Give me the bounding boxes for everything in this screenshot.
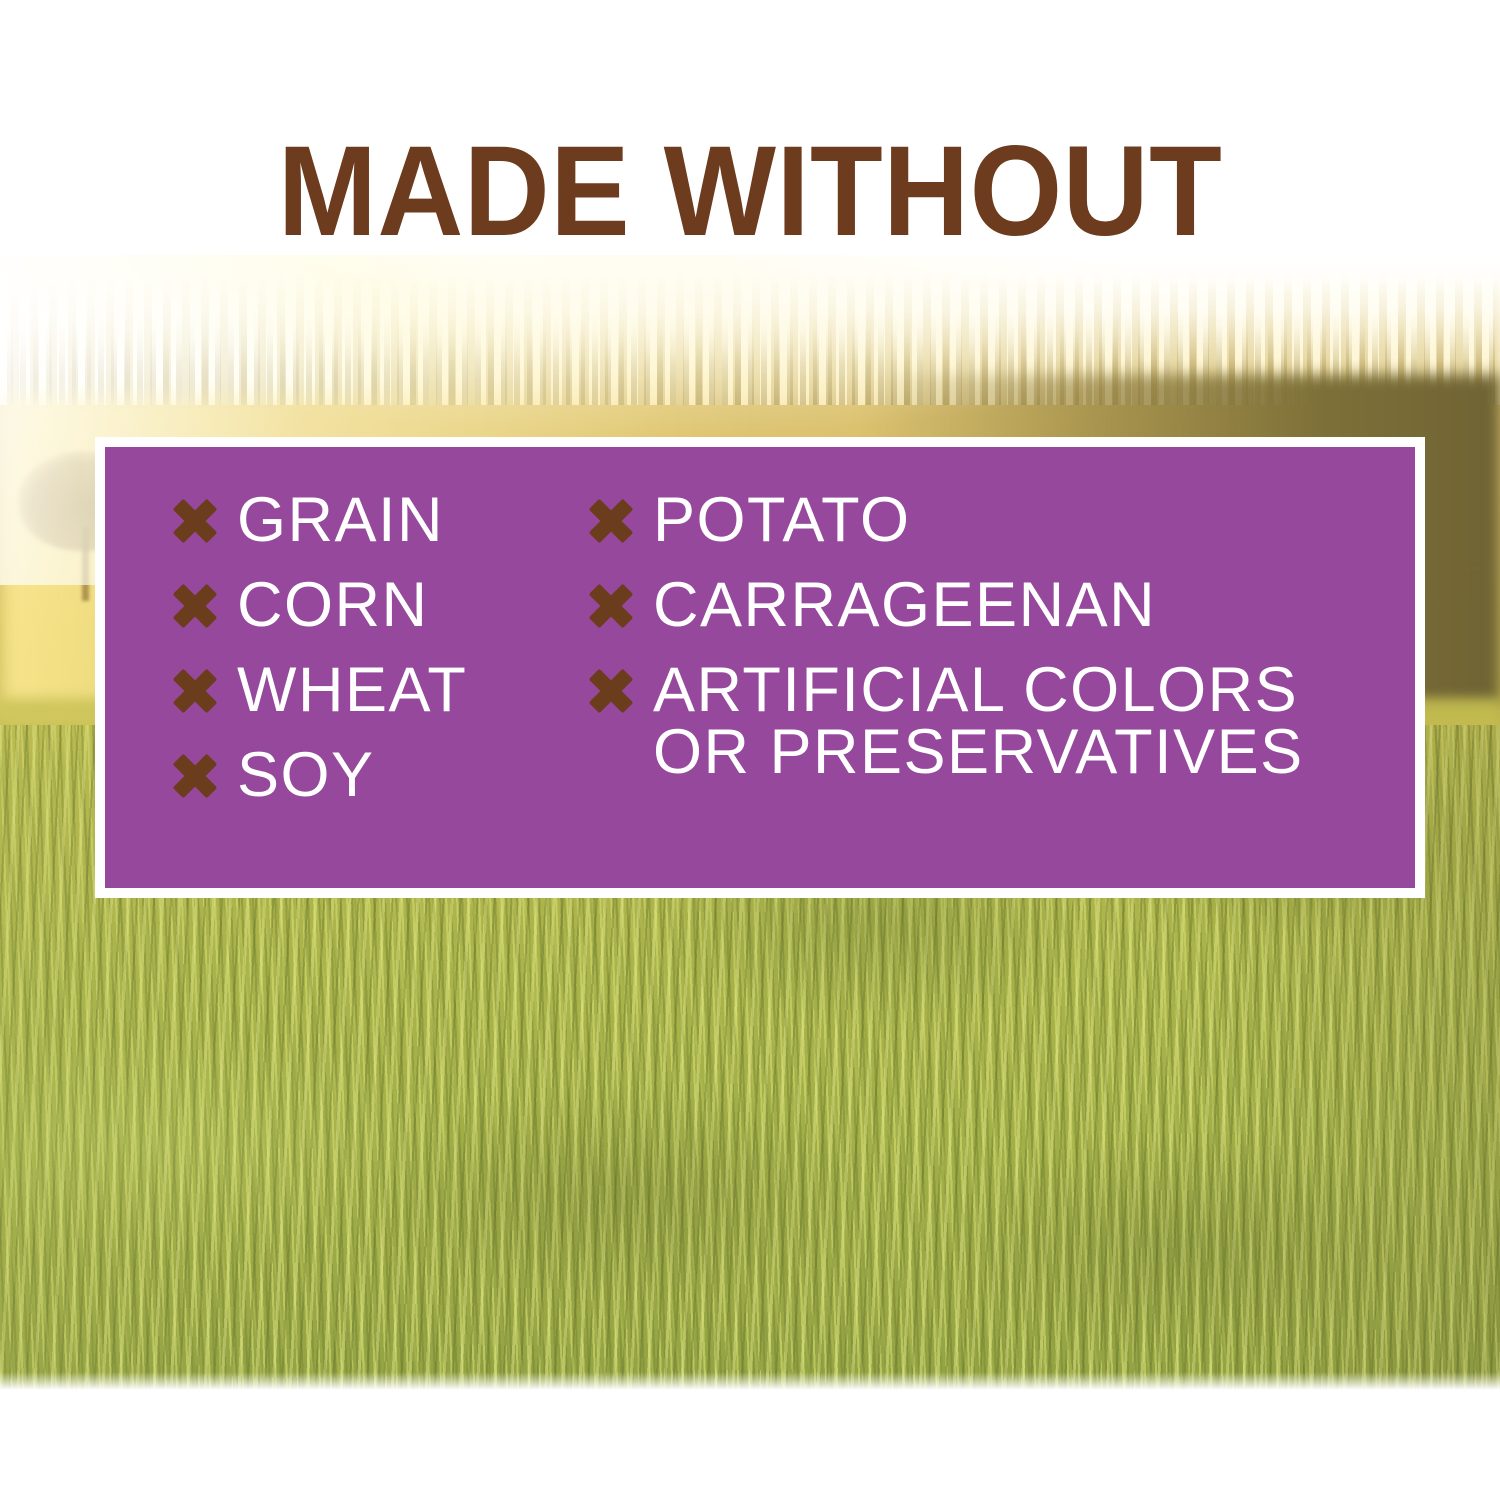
excluded-ingredients-right-column: POTATO CARRAGEENAN ARTIFICIAL COLORS OR … [575,489,1415,783]
list-item-label: POTATO [653,489,911,551]
excluded-ingredients-left-column: GRAIN CORN WHEAT SOY [105,489,575,829]
x-mark-icon [173,754,217,798]
list-item-label: SOY [237,744,375,806]
x-mark-icon [589,584,633,628]
x-mark-icon [173,499,217,543]
list-item-label: CORN [237,574,429,636]
made-without-panel: GRAIN CORN WHEAT SOY [105,447,1415,888]
photo-bottom-fade [0,1372,1500,1390]
made-without-panel-frame: GRAIN CORN WHEAT SOY [95,437,1425,898]
list-item-label: WHEAT [237,659,467,721]
list-item: WHEAT [173,659,575,744]
list-item: POTATO [589,489,1415,574]
x-mark-icon [589,669,633,713]
list-item-label-block: ARTIFICIAL COLORS OR PRESERVATIVES [653,659,1304,783]
list-item-label: CARRAGEENAN [653,574,1156,636]
list-item: CARRAGEENAN [589,574,1415,659]
list-item: ARTIFICIAL COLORS OR PRESERVATIVES [589,659,1415,783]
list-item-label-line2: OR PRESERVATIVES [653,721,1304,783]
page-title: MADE WITHOUT [53,128,1448,256]
list-item-label: ARTIFICIAL COLORS [653,655,1298,725]
list-item: SOY [173,744,575,829]
x-mark-icon [589,499,633,543]
list-item-label: GRAIN [237,489,444,551]
x-mark-icon [173,669,217,713]
list-item: CORN [173,574,575,659]
list-item: GRAIN [173,489,575,574]
made-without-graphic: MADE WITHOUT GRAIN CORN WHEAT [0,0,1500,1500]
x-mark-icon [173,584,217,628]
